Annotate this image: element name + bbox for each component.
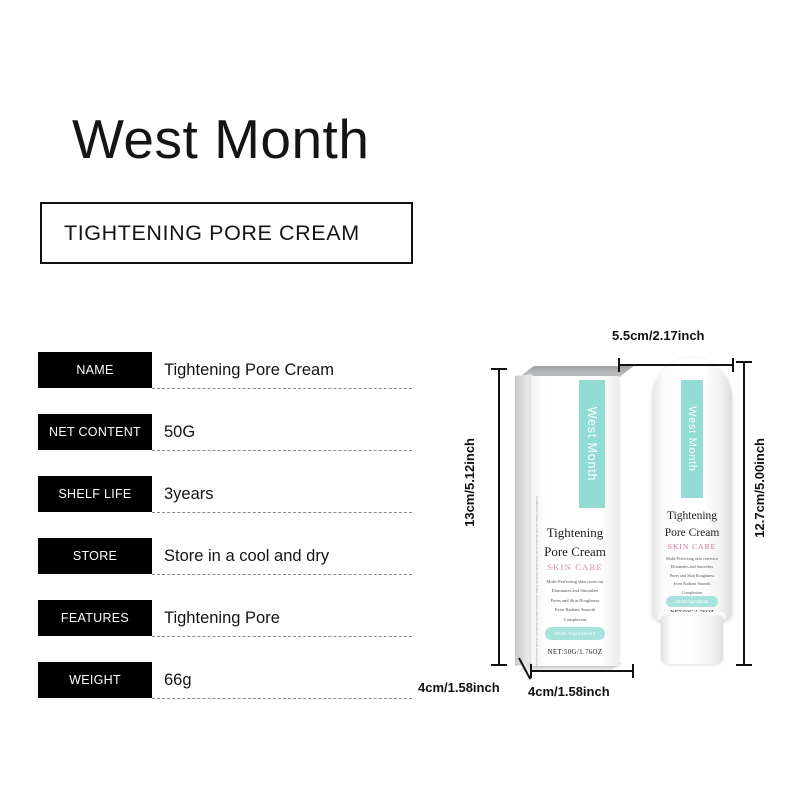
- dimension-cap: [530, 664, 532, 678]
- dimension-line-box-width: [530, 670, 634, 672]
- spec-key-weight: WEIGHT: [38, 662, 152, 698]
- subtitle-box: TIGHTENING PORE CREAM: [40, 202, 413, 264]
- carton-side-face: [515, 374, 532, 666]
- subtitle-text: TIGHTENING PORE CREAM: [42, 221, 360, 246]
- dimension-cap: [491, 664, 507, 666]
- tube-brand-text: West Month: [686, 406, 698, 472]
- tube-body-line: Eliminates and Smoothes: [657, 563, 727, 571]
- carton-body-line: Complexion: [535, 615, 615, 624]
- dimension-cap: [736, 361, 752, 363]
- tube-body-line: Even Radiant Smooth: [657, 580, 727, 588]
- carton-title-line1: Tightening: [531, 524, 619, 543]
- carton-pill-badge: SKIN Ingredients: [545, 627, 605, 640]
- tube-product-title: Tightening Pore Cream: [652, 508, 732, 541]
- tube-title-line2: Pore Cream: [652, 525, 732, 542]
- spec-value-name: Tightening Pore Cream: [164, 352, 334, 388]
- spec-value-shelf-life: 3years: [164, 476, 214, 512]
- spec-key-name: NAME: [38, 352, 152, 388]
- dimension-label-box-width: 4cm/1.58inch: [528, 684, 610, 699]
- product-carton-box: West Month INGREDIENTS Water Glycerin Bu…: [515, 366, 619, 666]
- spec-row-name: NAME Tightening Pore Cream: [38, 352, 412, 414]
- spec-value-features: Tightening Pore: [164, 600, 280, 636]
- carton-front-face: West Month INGREDIENTS Water Glycerin Bu…: [531, 376, 619, 666]
- carton-brand-band: West Month: [579, 380, 605, 508]
- dimension-cap: [491, 368, 507, 370]
- dimension-line-tube-width: [618, 364, 734, 366]
- carton-body-line: Eliminates and Smoothes: [535, 586, 615, 595]
- dimension-label-box-depth: 4cm/1.58inch: [418, 680, 500, 695]
- carton-body-line: Even Radiant Smooth: [535, 605, 615, 614]
- spec-value-store: Store in a cool and dry: [164, 538, 329, 574]
- carton-skincare-label: SKIN CARE: [531, 562, 619, 572]
- tube-cap: [661, 616, 723, 664]
- dimension-label-tube-width: 5.5cm/2.17inch: [612, 328, 705, 343]
- spec-key-net-content: NET CONTENT: [38, 414, 152, 450]
- page-title: West Month: [72, 112, 369, 167]
- carton-product-title: Tightening Pore Cream: [531, 524, 619, 562]
- spec-key-store: STORE: [38, 538, 152, 574]
- dimension-cap: [732, 358, 734, 372]
- carton-body-line: Multi-Perfecting skin corrector: [535, 577, 615, 586]
- spec-underline: [152, 388, 412, 389]
- carton-net-weight: NET:50G/1.76OZ: [531, 648, 619, 656]
- spec-row-features: FEATURES Tightening Pore: [38, 600, 412, 662]
- carton-title-line2: Pore Cream: [531, 543, 619, 562]
- spec-table: NAME Tightening Pore Cream NET CONTENT 5…: [38, 352, 412, 724]
- spec-underline: [152, 512, 412, 513]
- spec-row-store: STORE Store in a cool and dry: [38, 538, 412, 600]
- dimension-cap: [736, 664, 752, 666]
- spec-key-shelf-life: SHELF LIFE: [38, 476, 152, 512]
- tube-title-line1: Tightening: [652, 508, 732, 525]
- spec-value-net-content: 50G: [164, 414, 195, 450]
- spec-value-weight: 66g: [164, 662, 192, 698]
- tube-pill-badge: SKIN Ingredients: [666, 596, 718, 607]
- spec-row-weight: WEIGHT 66g: [38, 662, 412, 724]
- tube-body-copy: Multi-Perfecting skin corrector Eliminat…: [657, 555, 727, 597]
- dimension-line-tube-height: [743, 361, 745, 666]
- spec-underline: [152, 698, 412, 699]
- tube-skincare-label: SKIN CARE: [652, 542, 732, 551]
- carton-body-copy: Multi-Perfecting skin corrector Eliminat…: [535, 577, 615, 624]
- spec-row-shelf-life: SHELF LIFE 3years: [38, 476, 412, 538]
- tube-body: West Month Tightening Pore Cream SKIN CA…: [652, 358, 732, 620]
- tube-body-line: Pores and Skin Roughness: [657, 572, 727, 580]
- tube-body-line: Multi-Perfecting skin corrector: [657, 555, 727, 563]
- spec-row-net-content: NET CONTENT 50G: [38, 414, 412, 476]
- dimension-label-box-height: 13cm/5.12inch: [462, 438, 477, 527]
- dimension-cap: [632, 664, 634, 678]
- dimension-label-tube-height: 12.7cm/5.00inch: [752, 438, 767, 538]
- tube-brand-band: West Month: [681, 380, 703, 498]
- product-tube: West Month Tightening Pore Cream SKIN CA…: [652, 358, 732, 666]
- spec-underline: [152, 450, 412, 451]
- spec-key-features: FEATURES: [38, 600, 152, 636]
- carton-brand-text: West Month: [585, 407, 599, 481]
- carton-body-line: Pores and Skin Roughness: [535, 596, 615, 605]
- dimension-cap: [618, 358, 620, 372]
- dimension-line-box-height: [498, 368, 500, 666]
- spec-underline: [152, 574, 412, 575]
- product-image-area: West Month INGREDIENTS Water Glycerin Bu…: [420, 318, 800, 728]
- spec-underline: [152, 636, 412, 637]
